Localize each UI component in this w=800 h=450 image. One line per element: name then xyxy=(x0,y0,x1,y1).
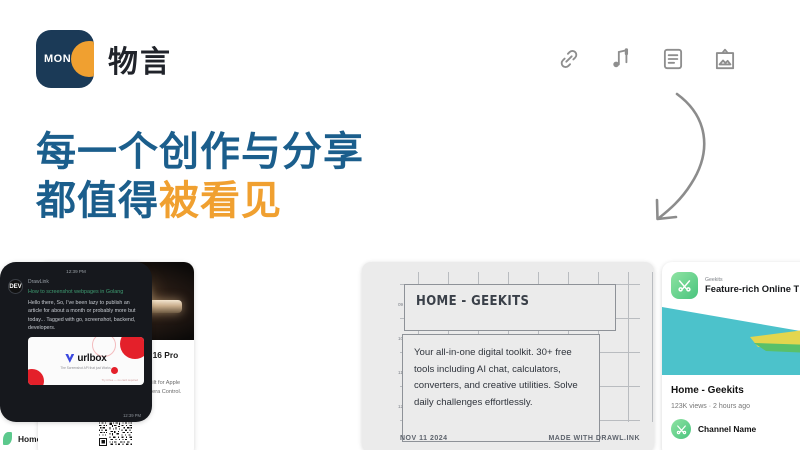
channel-row[interactable]: Channel Name xyxy=(671,419,800,439)
urlbox-tagline: The Screenshot API that just Works. xyxy=(28,366,144,370)
grid-note-card[interactable]: 09 10 11 12 HOME - GEEKITS Your all-in-o… xyxy=(362,262,654,450)
logo-circle-shape xyxy=(71,41,94,77)
curved-arrow-icon xyxy=(645,88,765,233)
video-card-header: Geekits Feature-rich Online T xyxy=(662,262,800,307)
content-type-toolbar xyxy=(556,46,738,72)
video-card-header-text: Geekits Feature-rich Online T xyxy=(705,277,799,295)
grid-note-heading-box: HOME - GEEKITS xyxy=(404,284,616,331)
brand-name: 物言 xyxy=(108,37,172,81)
music-note-icon[interactable] xyxy=(608,46,634,72)
headline-line-2-dark: 都值得 xyxy=(36,179,159,223)
chat-timestamp: 12:39 PM xyxy=(8,269,144,274)
channel-name: Channel Name xyxy=(698,424,756,434)
video-meta: 123K views · 2 hours ago xyxy=(671,403,800,410)
video-card-body: Home - Geekits 123K views · 2 hours ago … xyxy=(662,375,800,439)
decorative-blob xyxy=(28,369,44,385)
app-logo[interactable]: MON xyxy=(36,30,94,88)
chat-message-row: DEV DrawLink How to screenshot webpages … xyxy=(8,279,144,385)
urlbox-subnote: Try it free — no card required xyxy=(102,378,138,382)
chat-screenshot-card[interactable]: 12:39 PM DEV DrawLink How to screenshot … xyxy=(0,262,152,450)
chat-link-title[interactable]: How to screenshot webpages in Golang xyxy=(28,288,144,296)
channel-avatar xyxy=(671,419,691,439)
grid-note-credit: MADE WITH DRAWL.INK xyxy=(548,435,640,442)
headline-line-2-accent: 被看见 xyxy=(159,179,282,223)
link-icon[interactable] xyxy=(556,46,582,72)
document-icon[interactable] xyxy=(660,46,686,72)
chat-sent-time: 12:39 PM xyxy=(123,413,141,418)
geekits-tools-icon xyxy=(671,272,698,299)
headline-line-2: 都值得被看见 xyxy=(36,177,364,226)
grid-note-date: NOV 11 2024 xyxy=(400,435,448,442)
card-strip: PRO iPhone 16 Pro and iPhone 16 Pro Max … xyxy=(0,262,800,450)
urlbox-logo: urlbox xyxy=(28,353,144,364)
app-brand-label: Geekits xyxy=(705,277,799,284)
leaf-icon xyxy=(3,432,12,445)
row-number: 09 xyxy=(398,302,403,307)
brand-header: MON 物言 xyxy=(36,30,172,88)
headline-line-1: 每一个创作与分享 xyxy=(36,128,364,177)
landing-page: MON 物言 xyxy=(0,0,800,450)
chat-message-text: Hello there, So, I've been lazy to publi… xyxy=(28,299,144,332)
logo-text: MON xyxy=(44,53,71,65)
video-card[interactable]: Geekits Feature-rich Online T Home - Gee… xyxy=(662,262,800,450)
grid-note-body: Your all-in-one digital toolkit. 30+ fre… xyxy=(414,345,588,411)
video-title: Home - Geekits xyxy=(671,385,800,396)
urlbox-mark-icon xyxy=(65,354,74,363)
grid-note-body-box: Your all-in-one digital toolkit. 30+ fre… xyxy=(402,334,600,442)
image-clipboard-icon[interactable] xyxy=(712,46,738,72)
grid-note-footer: NOV 11 2024 MADE WITH DRAWL.INK xyxy=(400,435,640,442)
chat-phone-mockup: 12:39 PM DEV DrawLink How to screenshot … xyxy=(0,262,152,422)
chat-message-column: DrawLink How to screenshot webpages in G… xyxy=(28,279,144,385)
video-thumbnail[interactable] xyxy=(662,307,800,375)
chat-sender-name: DrawLink xyxy=(28,279,144,285)
grid-note-heading: HOME - GEEKITS xyxy=(416,294,604,309)
page-title: 每一个创作与分享 都值得被看见 xyxy=(36,128,364,226)
urlbox-link-preview[interactable]: urlbox The Screenshot API that just Work… xyxy=(28,337,144,385)
app-headline: Feature-rich Online T xyxy=(705,283,799,294)
dev-avatar: DEV xyxy=(8,279,23,294)
grid-note-inner: 09 10 11 12 HOME - GEEKITS Your all-in-o… xyxy=(382,272,640,444)
urlbox-wordmark: urlbox xyxy=(77,353,106,364)
